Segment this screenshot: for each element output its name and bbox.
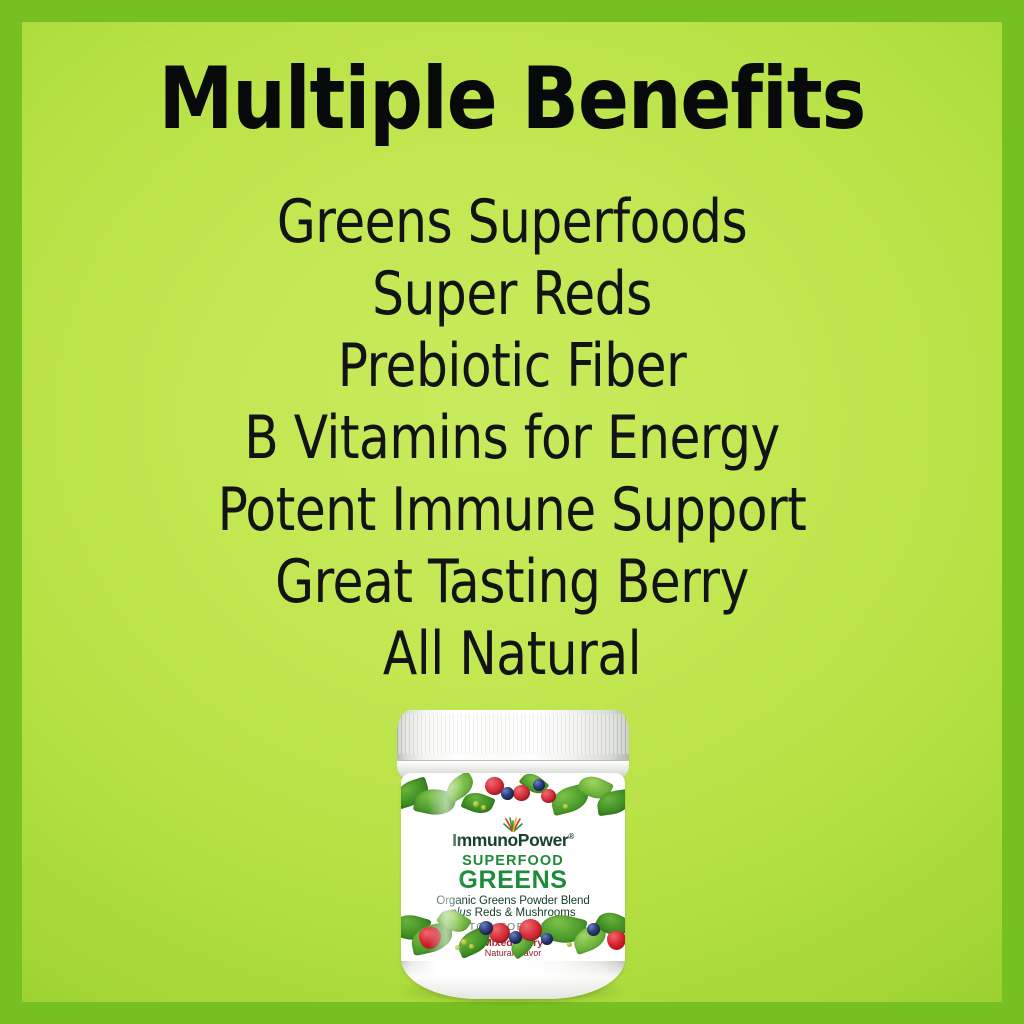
list-item: All Natural [36,618,988,690]
list-item: Super Reds [36,258,988,330]
label-bottom-fruit-band [401,909,625,961]
brand-name-text: ImmunoPower [452,830,568,850]
list-item: Greens Superfoods [36,186,988,258]
benefits-list: Greens Superfoods Super Reds Prebiotic F… [0,186,1024,690]
lid-ribbing-texture [397,714,629,754]
list-item: Prebiotic Fiber [36,330,988,402]
page-title: Multiple Benefits [15,56,1008,142]
product-benefits-poster: Multiple Benefits Greens Superfoods Supe… [0,0,1024,1024]
list-item: Great Tasting Berry [36,546,988,618]
product-label: ImmunoPower® SUPERFOOD GREENS Organic Gr… [401,773,625,961]
list-item: Potent Immune Support [36,474,988,546]
registered-mark: ® [568,832,574,841]
product-descriptor: Organic Greens Powder Blend [401,895,625,907]
brand-name: ImmunoPower® [401,830,625,851]
product-container-image: ImmunoPower® SUPERFOOD GREENS Organic Gr… [395,710,631,1000]
jar-lid [397,710,629,778]
label-top-fruit-band [401,773,625,819]
product-name-label: GREENS [401,866,625,895]
jar-body: ImmunoPower® SUPERFOOD GREENS Organic Gr… [401,773,625,999]
list-item: B Vitamins for Energy [36,402,988,474]
